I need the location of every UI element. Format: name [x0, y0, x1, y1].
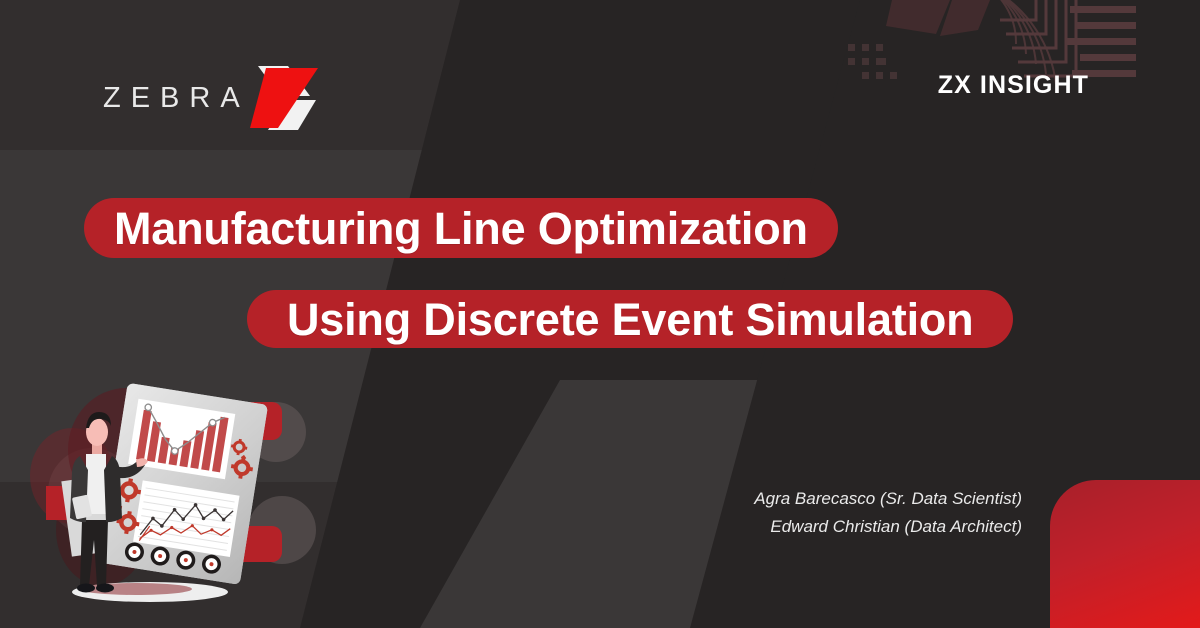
author-1: Agra Barecasco (Sr. Data Scientist)	[754, 485, 1022, 513]
page-title-line-1: Manufacturing Line Optimization	[84, 198, 838, 258]
zebrax-logo[interactable]: ZEBRA	[103, 62, 332, 134]
logo-wordmark: ZEBRA	[103, 84, 250, 113]
page-title-line-2: Using Discrete Event Simulation	[247, 290, 1013, 348]
person-shoe-right	[96, 584, 114, 593]
brand-tag: ZX INSIGHT	[938, 73, 1089, 98]
red-corner-block	[1050, 480, 1200, 628]
dashboard-board	[98, 383, 268, 585]
analyst-dashboard-illustration	[30, 380, 350, 610]
presentation-slide: ZEBRA ZX INSIGHT Manufacturing Line Opti…	[0, 0, 1200, 628]
zebra-x-mark-icon	[240, 60, 332, 136]
person-shoe-left	[77, 584, 95, 593]
authors-block: Agra Barecasco (Sr. Data Scientist) Edwa…	[754, 485, 1022, 541]
circuit-pattern-decoration	[840, 0, 1200, 200]
author-2: Edward Christian (Data Architect)	[754, 513, 1022, 541]
